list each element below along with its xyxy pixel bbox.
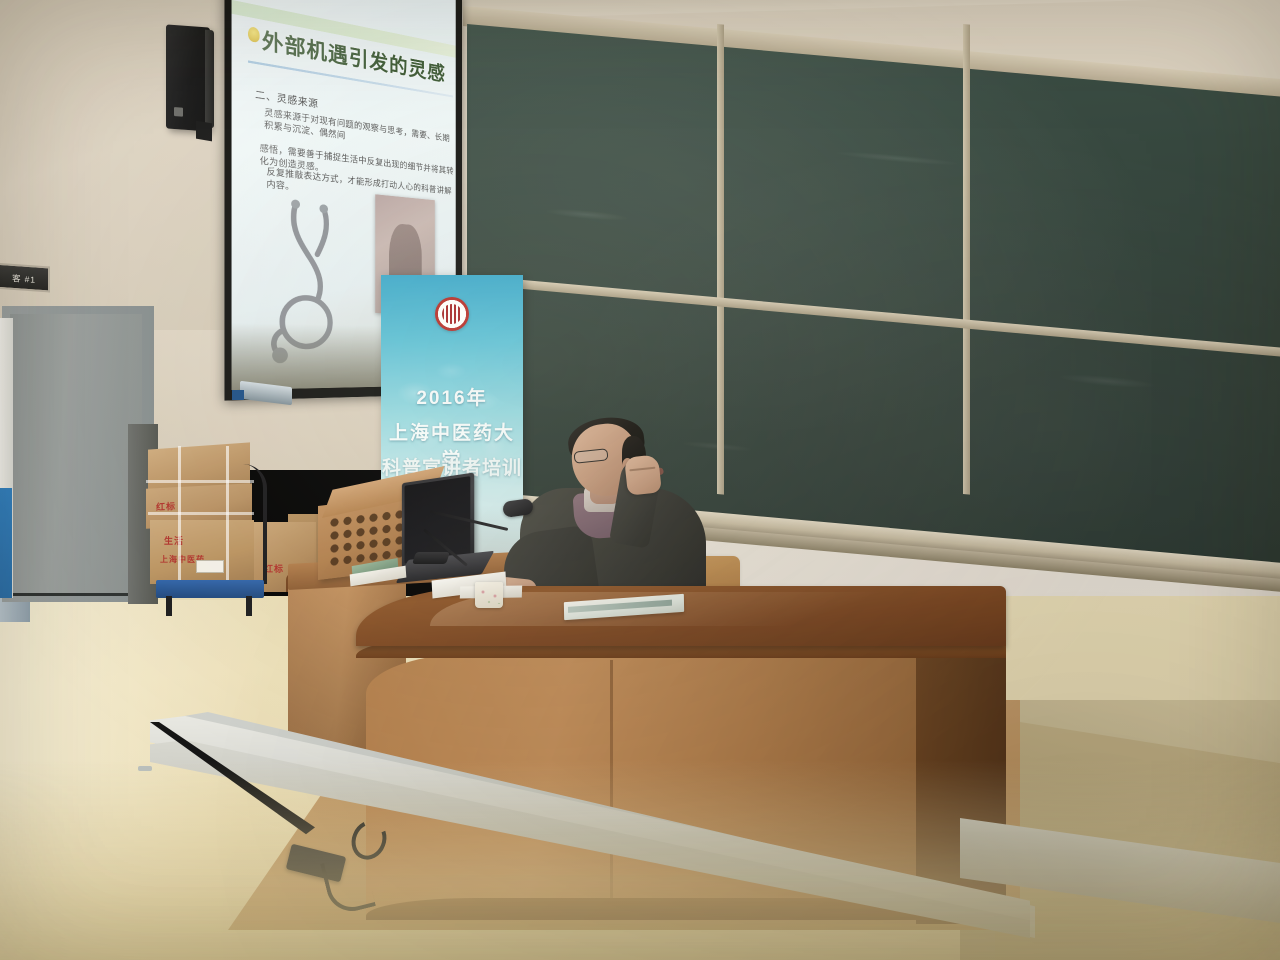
university-emblem-icon [435,297,469,331]
speaker-side-panel [205,30,214,129]
black-power-cable [243,464,267,584]
screen-blue-tag [232,390,244,400]
cardboard-box: 生活 上海中医药 [150,520,254,584]
emblem-inner [442,304,462,324]
wall-sign-label: 客 #1 [12,270,36,284]
raised-fist [624,454,662,495]
box-marking: 生活 [164,534,184,547]
dolly-leg [246,596,252,616]
wall-sign: 客 #1 [0,263,50,292]
box-strap [226,446,229,586]
speaker-badge [174,107,183,117]
gray-metal-door[interactable] [10,314,142,596]
floor-foreground-shading [0,760,1280,960]
shipping-label [196,560,224,573]
box-marking: 红标 [264,562,284,575]
speaker-mount-bracket [196,121,212,142]
door-blue-stripe [0,488,12,598]
lecture-hall-photo: 客 #1 外部机遇引发的灵感 二、灵感来源 灵感来源于对现有问题 [0,0,1280,960]
dolly-leg [166,596,172,616]
banner-year: 2016年 [381,383,523,410]
box-strap [148,512,254,515]
cup-floral-pattern [477,586,501,604]
microphone-base[interactable] [412,552,450,564]
speaker-icon [166,24,210,131]
lightbulb-icon [248,26,260,43]
folder-band [568,600,672,613]
box-strap [146,480,254,483]
box-strap [178,446,181,586]
blackboard-mullion-2 [963,24,970,495]
floral-paper-cup[interactable] [475,582,503,608]
